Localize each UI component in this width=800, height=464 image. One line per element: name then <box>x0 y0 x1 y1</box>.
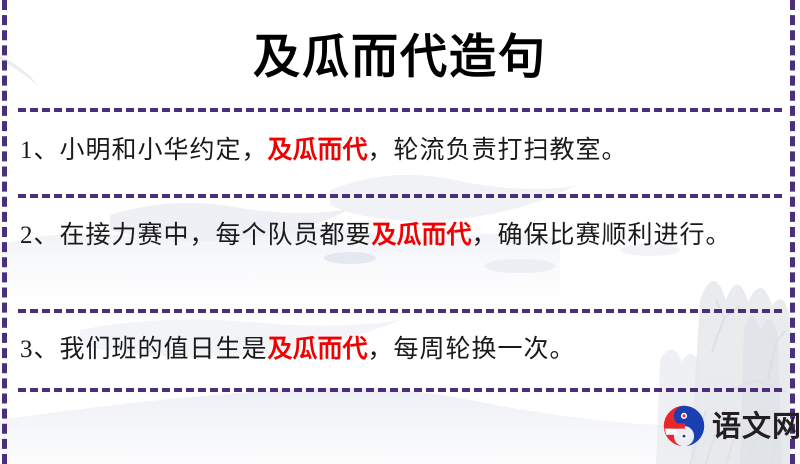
divider-below-title <box>18 108 782 112</box>
sentence-2-number: 2、 <box>20 222 60 249</box>
divider-after-sentence-1 <box>18 194 782 198</box>
sentence-1-text-before: 小明和小华约定， <box>60 137 268 164</box>
right-dashed-border <box>790 0 795 464</box>
example-sentence-2: 2、在接力赛中，每个队员都要及瓜而代，确保比赛顺利进行。 <box>20 213 782 258</box>
divider-after-sentence-3 <box>18 388 782 392</box>
sentence-3-text-after: ，每周轮换一次。 <box>368 336 576 363</box>
sentence-1-text-after: ，轮流负责打扫教室。 <box>368 137 628 164</box>
site-logo: 语文网 <box>662 404 800 448</box>
sentence-2-text-before: 在接力赛中，每个队员都要 <box>60 222 372 249</box>
sentence-example-card: 及瓜而代造句 1、小明和小华约定，及瓜而代，轮流负责打扫教室。 2、在接力赛中，… <box>0 0 800 464</box>
sentence-1-idiom: 及瓜而代 <box>268 137 368 164</box>
sentence-1-number: 1、 <box>20 137 60 164</box>
site-logo-text: 语文网 <box>712 412 800 441</box>
example-sentence-3: 3、我们班的值日生是及瓜而代，每周轮换一次。 <box>20 327 782 372</box>
sentence-3-text-before: 我们班的值日生是 <box>60 336 268 363</box>
page-title: 及瓜而代造句 <box>0 18 800 87</box>
divider-after-sentence-2 <box>18 309 782 313</box>
yinyang-fish-logo-icon <box>662 404 706 448</box>
sentence-3-idiom: 及瓜而代 <box>268 336 368 363</box>
example-sentence-1: 1、小明和小华约定，及瓜而代，轮流负责打扫教室。 <box>20 128 782 173</box>
sentence-2-idiom: 及瓜而代 <box>372 222 472 249</box>
left-dashed-border <box>2 0 7 464</box>
sentence-3-number: 3、 <box>20 336 60 363</box>
sentence-2-text-after: ，确保比赛顺利进行。 <box>472 222 732 249</box>
